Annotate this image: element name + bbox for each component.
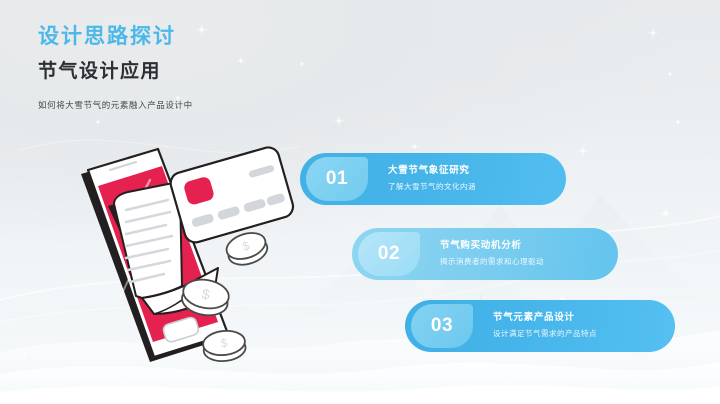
step-text-group: 节气购买动机分析 揭示消费者的需求和心理驱动 <box>440 241 544 267</box>
step-description: 设计满足节气需求的产品特点 <box>493 330 597 339</box>
step-number-badge: 02 <box>358 232 420 276</box>
step-title: 节气元素产品设计 <box>493 313 597 324</box>
step-title: 大雪节气象征研究 <box>388 166 476 177</box>
step-bar-01[interactable]: 01 大雪节气象征研究 了解大雪节气的文化内涵 <box>300 153 566 205</box>
step-text-group: 大雪节气象征研究 了解大雪节气的文化内涵 <box>388 166 476 192</box>
step-bar-list: 01 大雪节气象征研究 了解大雪节气的文化内涵 02 节气购买动机分析 揭示消费… <box>0 0 720 404</box>
step-description: 了解大雪节气的文化内涵 <box>388 183 476 192</box>
step-description: 揭示消费者的需求和心理驱动 <box>440 258 544 267</box>
step-number-badge: 03 <box>411 304 473 348</box>
slide-canvas: 设计思路探讨 节气设计应用 如何将大雪节气的元素融入产品设计中 <box>0 0 720 404</box>
step-title: 节气购买动机分析 <box>440 241 544 252</box>
step-text-group: 节气元素产品设计 设计满足节气需求的产品特点 <box>493 313 597 339</box>
step-bar-02[interactable]: 02 节气购买动机分析 揭示消费者的需求和心理驱动 <box>352 228 618 280</box>
step-bar-03[interactable]: 03 节气元素产品设计 设计满足节气需求的产品特点 <box>405 300 675 352</box>
step-number-badge: 01 <box>306 157 368 201</box>
